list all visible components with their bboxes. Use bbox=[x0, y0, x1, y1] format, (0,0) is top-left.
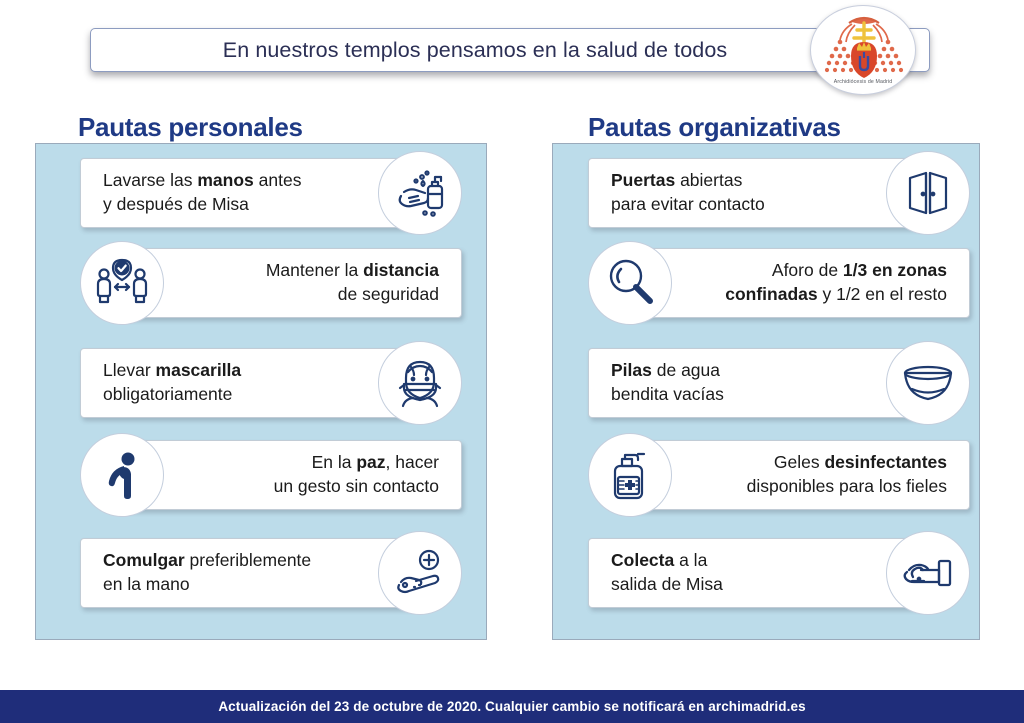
collection-hand-icon bbox=[886, 531, 970, 615]
card-text-line: En la paz, hacer bbox=[175, 451, 439, 475]
card-body: Geles desinfectantesdisponibles para los… bbox=[630, 440, 970, 510]
guideline-card: Aforo de 1/3 en zonasconfinadas y 1/2 en… bbox=[588, 248, 970, 318]
card-text-line: en la mano bbox=[103, 573, 367, 597]
face-mask-icon bbox=[378, 341, 462, 425]
communion-hand-icon bbox=[378, 531, 462, 615]
guideline-card: Comulgar preferiblementeen la mano bbox=[80, 538, 462, 608]
card-body: Pilas de aguabendita vacías bbox=[588, 348, 928, 418]
card-text-line: bendita vacías bbox=[611, 383, 875, 407]
card-text: Aforo de 1/3 en zonasconfinadas y 1/2 en… bbox=[631, 259, 969, 306]
archidiocesis-madrid-logo: Archidiócesis de Madrid bbox=[810, 5, 916, 95]
card-text-line: obligatoriamente bbox=[103, 383, 367, 407]
card-text-line: Colecta a la bbox=[611, 549, 875, 573]
title-bar: En nuestros templos pensamos en la salud… bbox=[90, 28, 930, 72]
card-text-line: Mantener la distancia bbox=[175, 259, 439, 283]
card-text-line: y después de Misa bbox=[103, 193, 367, 217]
heading-pautas-personales: Pautas personales bbox=[78, 112, 303, 143]
card-text: Mantener la distanciade seguridad bbox=[123, 259, 461, 306]
sanitizer-bottle-icon bbox=[588, 433, 672, 517]
card-body: Aforo de 1/3 en zonasconfinadas y 1/2 en… bbox=[630, 248, 970, 318]
card-text: Pilas de aguabendita vacías bbox=[589, 359, 927, 406]
header: En nuestros templos pensamos en la salud… bbox=[0, 0, 1024, 100]
guideline-card: Colecta a lasalida de Misa bbox=[588, 538, 970, 608]
page-title: En nuestros templos pensamos en la salud… bbox=[223, 38, 797, 63]
handwashing-icon bbox=[378, 151, 462, 235]
card-text-line: Pilas de agua bbox=[611, 359, 875, 383]
card-text: Comulgar preferiblementeen la mano bbox=[81, 549, 419, 596]
card-text-line: salida de Misa bbox=[611, 573, 875, 597]
heading-pautas-organizativas: Pautas organizativas bbox=[588, 112, 841, 143]
card-text: Colecta a lasalida de Misa bbox=[589, 549, 927, 596]
card-text-line: de seguridad bbox=[175, 283, 439, 307]
social-distance-icon bbox=[80, 241, 164, 325]
card-text: En la paz, hacerun gesto sin contacto bbox=[123, 451, 461, 498]
card-text: Llevar mascarillaobligatoriamente bbox=[81, 359, 419, 406]
card-text-line: un gesto sin contacto bbox=[175, 475, 439, 499]
guideline-card: Mantener la distanciade seguridad bbox=[80, 248, 462, 318]
card-text: Lavarse las manos antesy después de Misa bbox=[81, 169, 419, 216]
guideline-card: Geles desinfectantesdisponibles para los… bbox=[588, 440, 970, 510]
guideline-card: Pilas de aguabendita vacías bbox=[588, 348, 970, 418]
card-text-line: Llevar mascarilla bbox=[103, 359, 367, 383]
card-body: Llevar mascarillaobligatoriamente bbox=[80, 348, 420, 418]
card-body: Mantener la distanciade seguridad bbox=[122, 248, 462, 318]
open-doors-icon bbox=[886, 151, 970, 235]
logo-caption: Archidiócesis de Madrid bbox=[811, 79, 915, 85]
card-body: Lavarse las manos antesy después de Misa bbox=[80, 158, 420, 228]
guideline-card: Lavarse las manos antesy después de Misa bbox=[80, 158, 462, 228]
holy-water-font-icon bbox=[886, 341, 970, 425]
footer-bar: Actualización del 23 de octubre de 2020.… bbox=[0, 690, 1024, 723]
card-text: Puertas abiertaspara evitar contacto bbox=[589, 169, 927, 216]
guideline-card: Llevar mascarillaobligatoriamente bbox=[80, 348, 462, 418]
card-body: Puertas abiertaspara evitar contacto bbox=[588, 158, 928, 228]
card-text-line: para evitar contacto bbox=[611, 193, 875, 217]
card-text-line: confinadas y 1/2 en el resto bbox=[683, 283, 947, 307]
guideline-card: Puertas abiertaspara evitar contacto bbox=[588, 158, 970, 228]
card-body: Comulgar preferiblementeen la mano bbox=[80, 538, 420, 608]
bow-greeting-icon bbox=[80, 433, 164, 517]
card-text-line: Geles desinfectantes bbox=[683, 451, 947, 475]
card-text-line: Aforo de 1/3 en zonas bbox=[683, 259, 947, 283]
card-text: Geles desinfectantesdisponibles para los… bbox=[631, 451, 969, 498]
card-text-line: Comulgar preferiblemente bbox=[103, 549, 367, 573]
card-text-line: Lavarse las manos antes bbox=[103, 169, 367, 193]
card-text-line: Puertas abiertas bbox=[611, 169, 875, 193]
card-body: Colecta a lasalida de Misa bbox=[588, 538, 928, 608]
footer-update-text: Actualización del 23 de octubre de 2020.… bbox=[218, 699, 805, 714]
card-body: En la paz, hacerun gesto sin contacto bbox=[122, 440, 462, 510]
magnifier-icon bbox=[588, 241, 672, 325]
card-text-line: disponibles para los fieles bbox=[683, 475, 947, 499]
guideline-card: En la paz, hacerun gesto sin contacto bbox=[80, 440, 462, 510]
